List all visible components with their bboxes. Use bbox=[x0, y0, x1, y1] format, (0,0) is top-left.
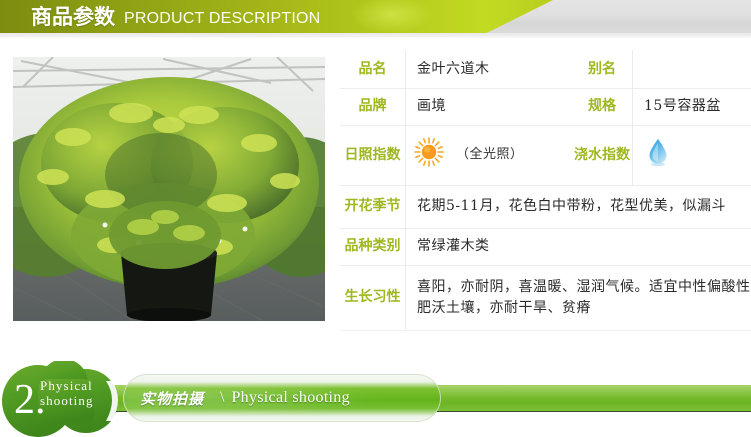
spec-value-bloom-season: 花期5-11月，花色白中带粉，花型优美，似漏斗 bbox=[406, 185, 751, 228]
table-row: 生长习性 喜阳，亦耐阴，喜温暖、湿润气候。适宜中性偏酸性肥沃土壤，亦耐干旱、贫瘠 bbox=[340, 265, 751, 330]
header-title-group: 商品参数 PRODUCT DESCRIPTION bbox=[31, 1, 320, 34]
spec-label-variety-type: 品种类别 bbox=[340, 228, 406, 265]
spec-value-spec: 15号容器盆 bbox=[633, 88, 751, 125]
spec-label-sunlight: 日照指数 bbox=[340, 125, 406, 185]
table-row: 开花季节 花期5-11月，花色白中带粉，花型优美，似漏斗 bbox=[340, 185, 751, 228]
spec-label-spec: 规格 bbox=[572, 88, 633, 125]
section-header-physical-shooting: 实物拍摄 \ Physical shooting 2. Physical bbox=[0, 361, 751, 437]
section-title-en: Physical shooting bbox=[231, 389, 349, 407]
sunlight-note: （全光照） bbox=[456, 146, 524, 165]
badge-label-line2: shooting bbox=[40, 393, 94, 408]
product-spec-table: 品名 金叶六道木 别名 品牌 画境 规格 15号容器盆 日照指数 bbox=[340, 50, 751, 331]
section-title-separator: \ bbox=[220, 389, 224, 407]
spec-label-bloom-season: 开花季节 bbox=[340, 185, 406, 228]
table-row: 品种类别 常绿灌木类 bbox=[340, 228, 751, 265]
table-row: 品牌 画境 规格 15号容器盆 bbox=[340, 88, 751, 125]
spec-value-brand: 画境 bbox=[406, 88, 573, 125]
spec-value-alias bbox=[633, 50, 751, 88]
spec-label-growth-habit: 生长习性 bbox=[340, 265, 406, 330]
table-row: 日照指数 bbox=[340, 125, 751, 185]
spec-value-sunlight: （全光照） bbox=[406, 125, 573, 185]
spec-value-name: 金叶六道木 bbox=[406, 50, 573, 88]
spec-label-alias: 别名 bbox=[572, 50, 633, 88]
table-row: 品名 金叶六道木 别名 bbox=[340, 50, 751, 88]
section-number-badge: 2. Physical shooting bbox=[2, 361, 142, 437]
spec-value-variety-type: 常绿灌木类 bbox=[406, 228, 751, 265]
section-title-cn: 实物拍摄 bbox=[140, 388, 204, 409]
spec-label-name: 品名 bbox=[340, 50, 406, 88]
product-photo bbox=[13, 57, 325, 321]
sun-icon bbox=[414, 137, 444, 173]
page-title-cn: 商品参数 bbox=[31, 7, 115, 28]
spec-value-growth-habit: 喜阳，亦耐阴，喜温暖、湿润气候。适宜中性偏酸性肥沃土壤，亦耐干旱、贫瘠 bbox=[406, 265, 751, 330]
section-badge-label: Physical shooting bbox=[40, 379, 94, 409]
spec-label-brand: 品牌 bbox=[340, 88, 406, 125]
section-title-group: 实物拍摄 \ Physical shooting bbox=[140, 385, 350, 411]
spec-value-watering bbox=[633, 125, 751, 185]
water-drop-icon bbox=[646, 155, 670, 171]
badge-label-line1: Physical bbox=[40, 378, 93, 393]
page-header-banner: 商品参数 PRODUCT DESCRIPTION bbox=[0, 0, 751, 38]
spec-label-watering: 浇水指数 bbox=[572, 125, 633, 185]
page-title-en: PRODUCT DESCRIPTION bbox=[124, 11, 320, 27]
